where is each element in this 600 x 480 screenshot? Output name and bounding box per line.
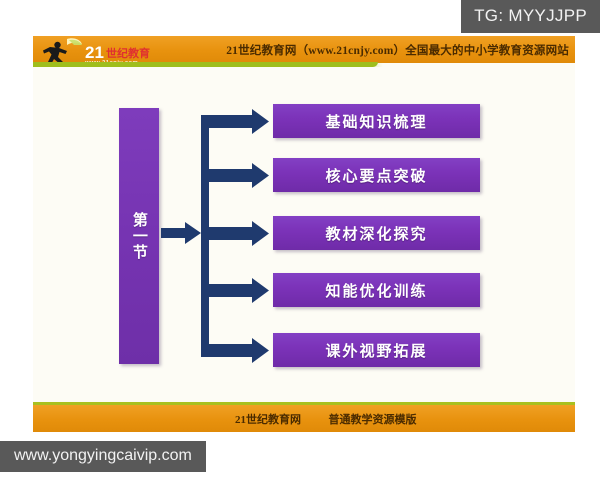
footer-banner: 21世纪教育网 普通教学资源模版 xyxy=(33,405,575,432)
footer-right-text: 普通教学资源模版 xyxy=(329,411,417,427)
item-box-5[interactable]: 课外视野拓展 xyxy=(273,333,480,367)
section-title-box: 第一节 xyxy=(119,108,159,364)
banner-green-tab-fade xyxy=(333,62,383,67)
item-label-2: 核心要点突破 xyxy=(325,165,427,186)
brand-logo-icon: 21 世纪教育 www.21cnjy.com xyxy=(36,36,166,63)
section-title-label: 第一节 xyxy=(130,212,148,260)
item-label-4: 知能优化训练 xyxy=(325,280,427,301)
item-label-1: 基础知识梳理 xyxy=(325,111,427,132)
banner-green-tab xyxy=(33,62,378,67)
item-box-1[interactable]: 基础知识梳理 xyxy=(273,104,480,138)
telegram-tag-overlay: TG: MYYJJPP xyxy=(461,0,600,33)
watermark-site-overlay: www.yongyingcaivip.com xyxy=(0,441,206,472)
item-label-5: 课外视野拓展 xyxy=(325,340,427,361)
footer-left-text: 21世纪教育网 xyxy=(235,411,301,427)
banner-title-text: 21世纪教育网（www.21cnjy.com）全国最大的中小学教育资源网站 xyxy=(226,42,569,58)
slide-canvas: 21世纪教育网（www.21cnjy.com）全国最大的中小学教育资源网站 21… xyxy=(33,36,575,432)
item-box-4[interactable]: 知能优化训练 xyxy=(273,273,480,307)
item-box-3[interactable]: 教材深化探究 xyxy=(273,216,480,250)
item-box-2[interactable]: 核心要点突破 xyxy=(273,158,480,192)
item-label-3: 教材深化探究 xyxy=(325,223,427,244)
svg-text:世纪教育: 世纪教育 xyxy=(106,46,150,60)
header-banner: 21世纪教育网（www.21cnjy.com）全国最大的中小学教育资源网站 21… xyxy=(33,36,575,63)
footer-text-group: 21世纪教育网 普通教学资源模版 xyxy=(235,411,417,427)
svg-text:21: 21 xyxy=(85,43,104,62)
